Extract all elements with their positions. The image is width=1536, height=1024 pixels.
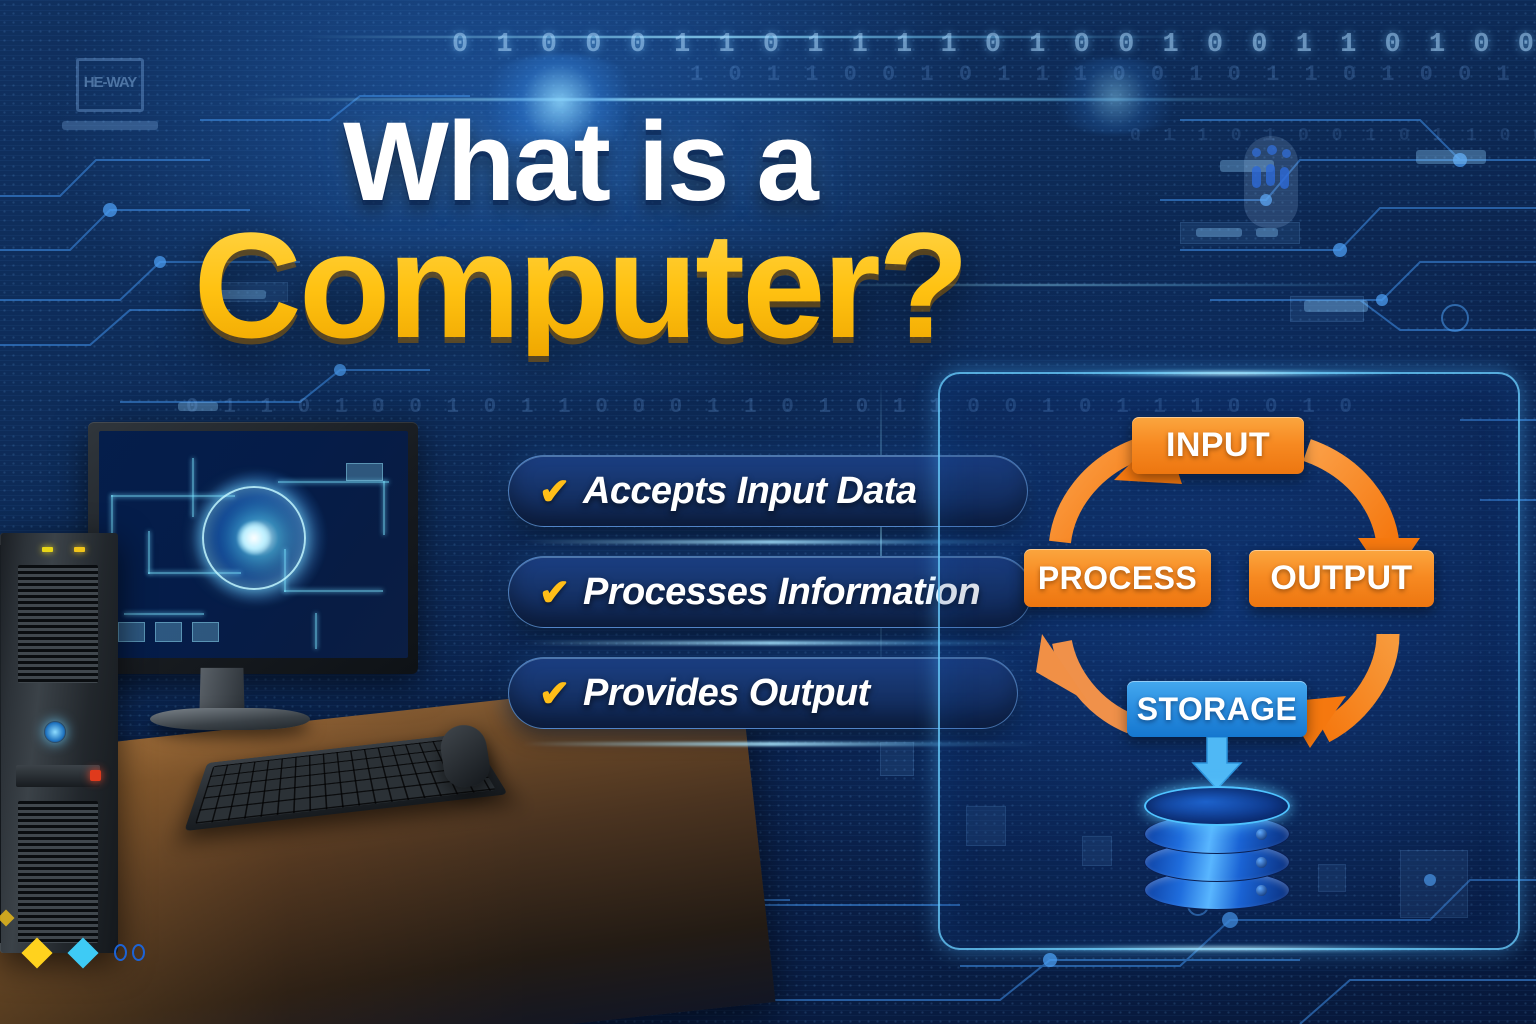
mouse-outline-icon (1244, 136, 1298, 228)
computer-monitor (88, 422, 418, 674)
mouse-button (1280, 167, 1289, 189)
title-line-1: What is a (0, 110, 1160, 214)
node-label: STORAGE (1137, 691, 1297, 728)
diagram-node-process[interactable]: PROCESS (1024, 549, 1211, 607)
feature-label: Provides Output (583, 672, 870, 715)
db-indicator-dot (1256, 857, 1267, 868)
database-cylinder-icon (1144, 786, 1290, 912)
check-icon: ✔ (539, 675, 570, 712)
mouse-dot (1282, 149, 1291, 158)
panel-bottom-glow (980, 945, 1478, 952)
bg-block (1290, 296, 1364, 322)
monitor-base (150, 708, 310, 730)
power-button-glow (44, 721, 66, 743)
activity-led (90, 770, 101, 781)
poster-title: What is a Computer? (0, 110, 1160, 356)
cpu-core-glow (237, 521, 271, 555)
panel-top-glow (1060, 370, 1400, 377)
diagram-node-storage[interactable]: STORAGE (1127, 681, 1307, 737)
mouse-button (1266, 164, 1275, 186)
mouse-dot (1252, 148, 1261, 157)
check-icon: ✔ (539, 574, 570, 611)
diagram-node-output[interactable]: OUTPUT (1249, 550, 1434, 607)
feature-label: Processes Information (583, 571, 980, 614)
node-label: INPUT (1166, 426, 1270, 465)
binary-text-second: 1 0 1 1 0 0 1 0 1 1 1 0 0 1 0 1 1 0 1 0 … (690, 62, 1536, 87)
db-indicator-dot (1256, 829, 1267, 840)
diagram-node-input[interactable]: INPUT (1132, 417, 1304, 474)
db-indicator-dot (1256, 885, 1267, 896)
laptop-badge-label: HE-WAY (62, 74, 158, 91)
tower-side-panel (0, 545, 1, 943)
decoration-ring-blue (132, 944, 145, 961)
node-label: OUTPUT (1270, 559, 1412, 598)
desktop-computer-photo (0, 405, 560, 1024)
monitor-screen (99, 431, 408, 658)
mouse-dot (1267, 145, 1277, 155)
db-top-surface (1144, 786, 1290, 826)
feature-label: Accepts Input Data (583, 470, 916, 513)
check-icon: ✔ (539, 473, 570, 510)
binary-text-faint: 0 1 1 0 1 0 0 1 0 1 1 0 0 0 1 1 0 1 0 1 … (1130, 126, 1536, 146)
computer-tower (0, 533, 118, 953)
infographic-canvas: 0 1 0 0 0 1 1 0 1 1 1 1 0 1 0 0 1 0 0 1 … (0, 0, 1536, 1024)
decoration-ring-blue (114, 944, 127, 961)
title-line-2: Computer? (0, 216, 1160, 356)
optical-drive-bay (16, 765, 100, 787)
arrow-storage-to-database (1189, 737, 1245, 791)
node-label: PROCESS (1038, 560, 1197, 597)
mouse-button (1252, 166, 1261, 188)
binary-text-top: 0 1 0 0 0 1 1 0 1 1 1 1 0 1 0 0 1 0 0 1 … (452, 30, 1536, 60)
